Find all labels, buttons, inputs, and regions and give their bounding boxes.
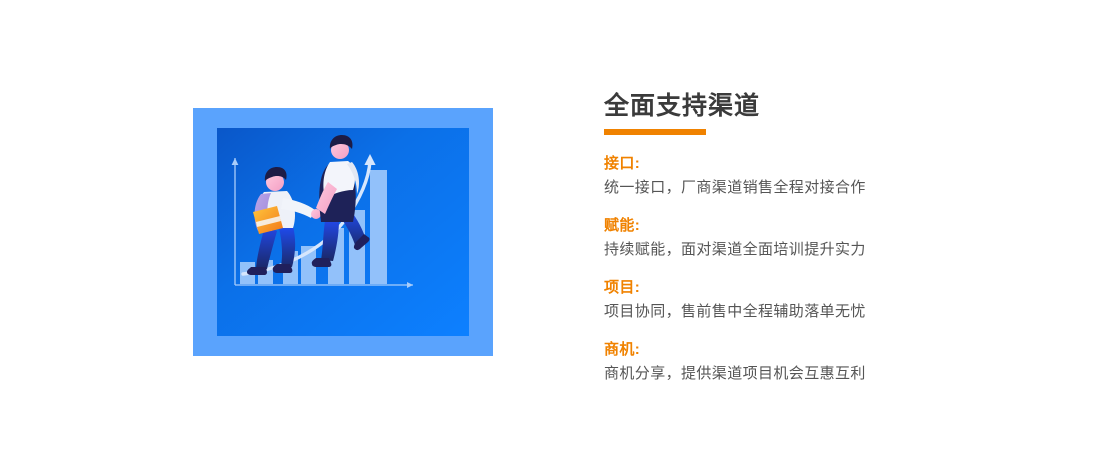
partnership-growth-illustration: [217, 128, 469, 336]
title-underline: [604, 129, 706, 135]
list-item: 项目: 项目协同，售前售中全程辅助落单无忧: [604, 276, 1024, 325]
illustration-frame: [193, 108, 493, 356]
feature-list: 接口: 统一接口，厂商渠道销售全程对接合作 赋能: 持续赋能，面对渠道全面培训提…: [604, 152, 1024, 387]
feature-text-column: 全面支持渠道 接口: 统一接口，厂商渠道销售全程对接合作 赋能: 持续赋能，面对…: [604, 90, 1024, 400]
feature-label: 项目:: [604, 276, 1024, 299]
feature-label: 赋能:: [604, 214, 1024, 237]
feature-description: 统一接口，厂商渠道销售全程对接合作: [604, 175, 1024, 201]
feature-label: 接口:: [604, 152, 1024, 175]
list-item: 接口: 统一接口，厂商渠道销售全程对接合作: [604, 152, 1024, 201]
illustration-panel: [217, 128, 469, 336]
feature-description: 持续赋能，面对渠道全面培训提升实力: [604, 237, 1024, 263]
feature-description: 商机分享，提供渠道项目机会互惠互利: [604, 361, 1024, 387]
list-item: 赋能: 持续赋能，面对渠道全面培训提升实力: [604, 214, 1024, 263]
list-item: 商机: 商机分享，提供渠道项目机会互惠互利: [604, 338, 1024, 387]
feature-description: 项目协同，售前售中全程辅助落单无忧: [604, 299, 1024, 325]
page-title: 全面支持渠道: [604, 90, 1024, 122]
feature-label: 商机:: [604, 338, 1024, 361]
